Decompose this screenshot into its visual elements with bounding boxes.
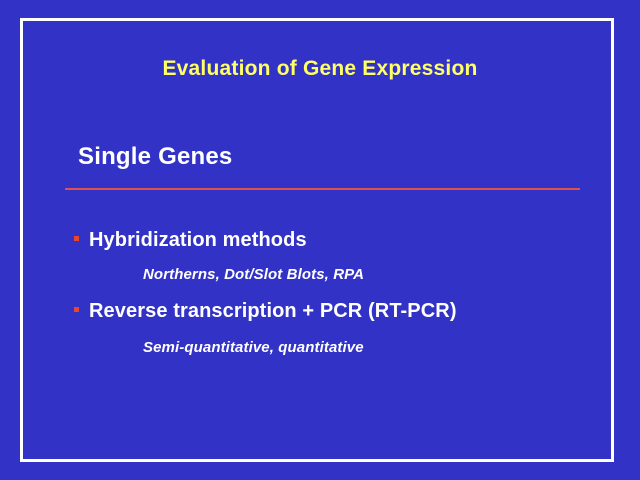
bullet-label: Reverse transcription + PCR (RT-PCR): [89, 299, 457, 323]
presentation-slide: Evaluation of Gene Expression Single Gen…: [0, 0, 640, 480]
list-item: Hybridization methods: [74, 228, 307, 252]
bullet-detail-text: Northerns, Dot/Slot Blots, RPA: [143, 265, 364, 284]
page-title: Evaluation of Gene Expression: [0, 56, 640, 82]
horizontal-divider: [65, 188, 580, 190]
slide-subtitle: Single Genes: [78, 142, 232, 172]
bullet-dot-icon: [74, 307, 79, 312]
bullet-label: Hybridization methods: [89, 228, 307, 252]
list-item: Reverse transcription + PCR (RT-PCR): [74, 299, 457, 323]
bullet-detail-text: Semi-quantitative, quantitative: [143, 338, 364, 357]
bullet-dot-icon: [74, 236, 79, 241]
